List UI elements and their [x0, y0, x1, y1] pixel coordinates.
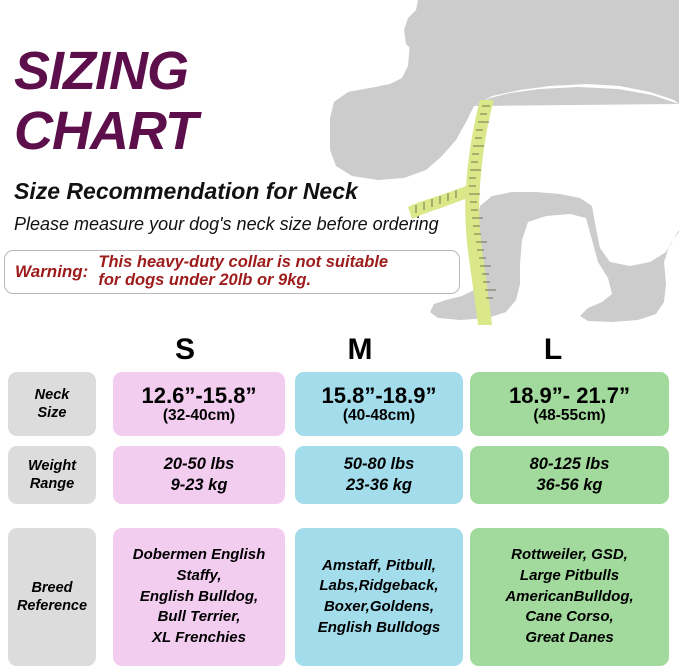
- breed-line: Large Pitbulls: [520, 566, 619, 587]
- cell-weight-range-l: 80-125 lbs 36-56 kg: [470, 446, 669, 504]
- subtitle: Size Recommendation for Neck: [14, 178, 358, 205]
- cell-neck-size-l-inches: 18.9”- 21.7”: [509, 384, 630, 407]
- breed-line: English Bulldogs: [318, 618, 441, 639]
- instruction-text: Please measure your dog's neck size befo…: [14, 214, 439, 235]
- cell-neck-size-s-cm: (32-40cm): [163, 407, 235, 425]
- row-label-weight-range-line1: Weight: [28, 457, 76, 475]
- breed-line: XL Frenchies: [152, 628, 246, 649]
- cell-neck-size-m-cm: (40-48cm): [343, 407, 415, 425]
- breed-line: English Bulldog,: [140, 587, 258, 608]
- breed-line: Labs,Ridgeback,: [319, 576, 438, 597]
- breed-line: Staffy,: [176, 566, 221, 587]
- cell-breed-reference-l: Rottweiler, GSD, Large Pitbulls American…: [470, 528, 669, 666]
- cell-breed-reference-s: Dobermen English Staffy, English Bulldog…: [113, 528, 285, 666]
- cell-weight-range-s: 20-50 lbs 9-23 kg: [113, 446, 285, 504]
- cell-breed-reference-m: Amstaff, Pitbull, Labs,Ridgeback, Boxer,…: [295, 528, 463, 666]
- warning-message-line1: This heavy-duty collar is not suitable: [98, 254, 388, 272]
- breed-line: Cane Corso,: [525, 607, 613, 628]
- cell-weight-range-l-lbs: 80-125 lbs: [530, 454, 610, 475]
- page-title-line2: CHART: [14, 104, 197, 158]
- size-header-m: M: [330, 333, 390, 367]
- cell-neck-size-m-inches: 15.8”-18.9”: [322, 384, 437, 407]
- size-header-s: S: [155, 333, 215, 367]
- cell-neck-size-m: 15.8”-18.9” (40-48cm): [295, 372, 463, 436]
- breed-line: Rottweiler, GSD,: [511, 545, 628, 566]
- cell-weight-range-l-kg: 36-56 kg: [536, 475, 602, 496]
- row-label-breed-reference: Breed Reference: [8, 528, 96, 666]
- cell-weight-range-s-lbs: 20-50 lbs: [164, 454, 235, 475]
- row-label-neck-size-line2: Size: [37, 404, 66, 422]
- breed-line: Bull Terrier,: [158, 607, 241, 628]
- warning-label: Warning:: [5, 262, 88, 282]
- cell-neck-size-l: 18.9”- 21.7” (48-55cm): [470, 372, 669, 436]
- cell-weight-range-m-lbs: 50-80 lbs: [344, 454, 415, 475]
- cell-neck-size-s-inches: 12.6”-15.8”: [142, 384, 257, 407]
- row-label-breed-reference-line2: Reference: [17, 597, 87, 615]
- cell-weight-range-m-kg: 23-36 kg: [346, 475, 412, 496]
- row-label-neck-size: Neck Size: [8, 372, 96, 436]
- warning-message-line2: for dogs under 20lb or 9kg.: [98, 272, 388, 290]
- size-header-l: L: [523, 333, 583, 367]
- warning-box: Warning: This heavy-duty collar is not s…: [4, 250, 460, 294]
- row-label-breed-reference-line1: Breed: [31, 579, 72, 597]
- warning-message: This heavy-duty collar is not suitable f…: [88, 254, 388, 290]
- row-label-weight-range-line2: Range: [30, 475, 74, 493]
- cell-weight-range-m: 50-80 lbs 23-36 kg: [295, 446, 463, 504]
- page-title-line1: SIZING: [14, 44, 188, 98]
- breed-line: Great Danes: [525, 628, 613, 649]
- cell-weight-range-s-kg: 9-23 kg: [171, 475, 228, 496]
- breed-line: AmericanBulldog,: [505, 587, 633, 608]
- row-label-weight-range: Weight Range: [8, 446, 96, 504]
- breed-line: Boxer,Goldens,: [324, 597, 434, 618]
- sizing-chart-page: SIZING CHART Size Recommendation for Nec…: [0, 0, 679, 672]
- breed-line: Dobermen English: [133, 545, 266, 566]
- row-label-neck-size-line1: Neck: [35, 386, 70, 404]
- cell-neck-size-s: 12.6”-15.8” (32-40cm): [113, 372, 285, 436]
- cell-neck-size-l-cm: (48-55cm): [533, 407, 605, 425]
- breed-line: Amstaff, Pitbull,: [322, 556, 436, 577]
